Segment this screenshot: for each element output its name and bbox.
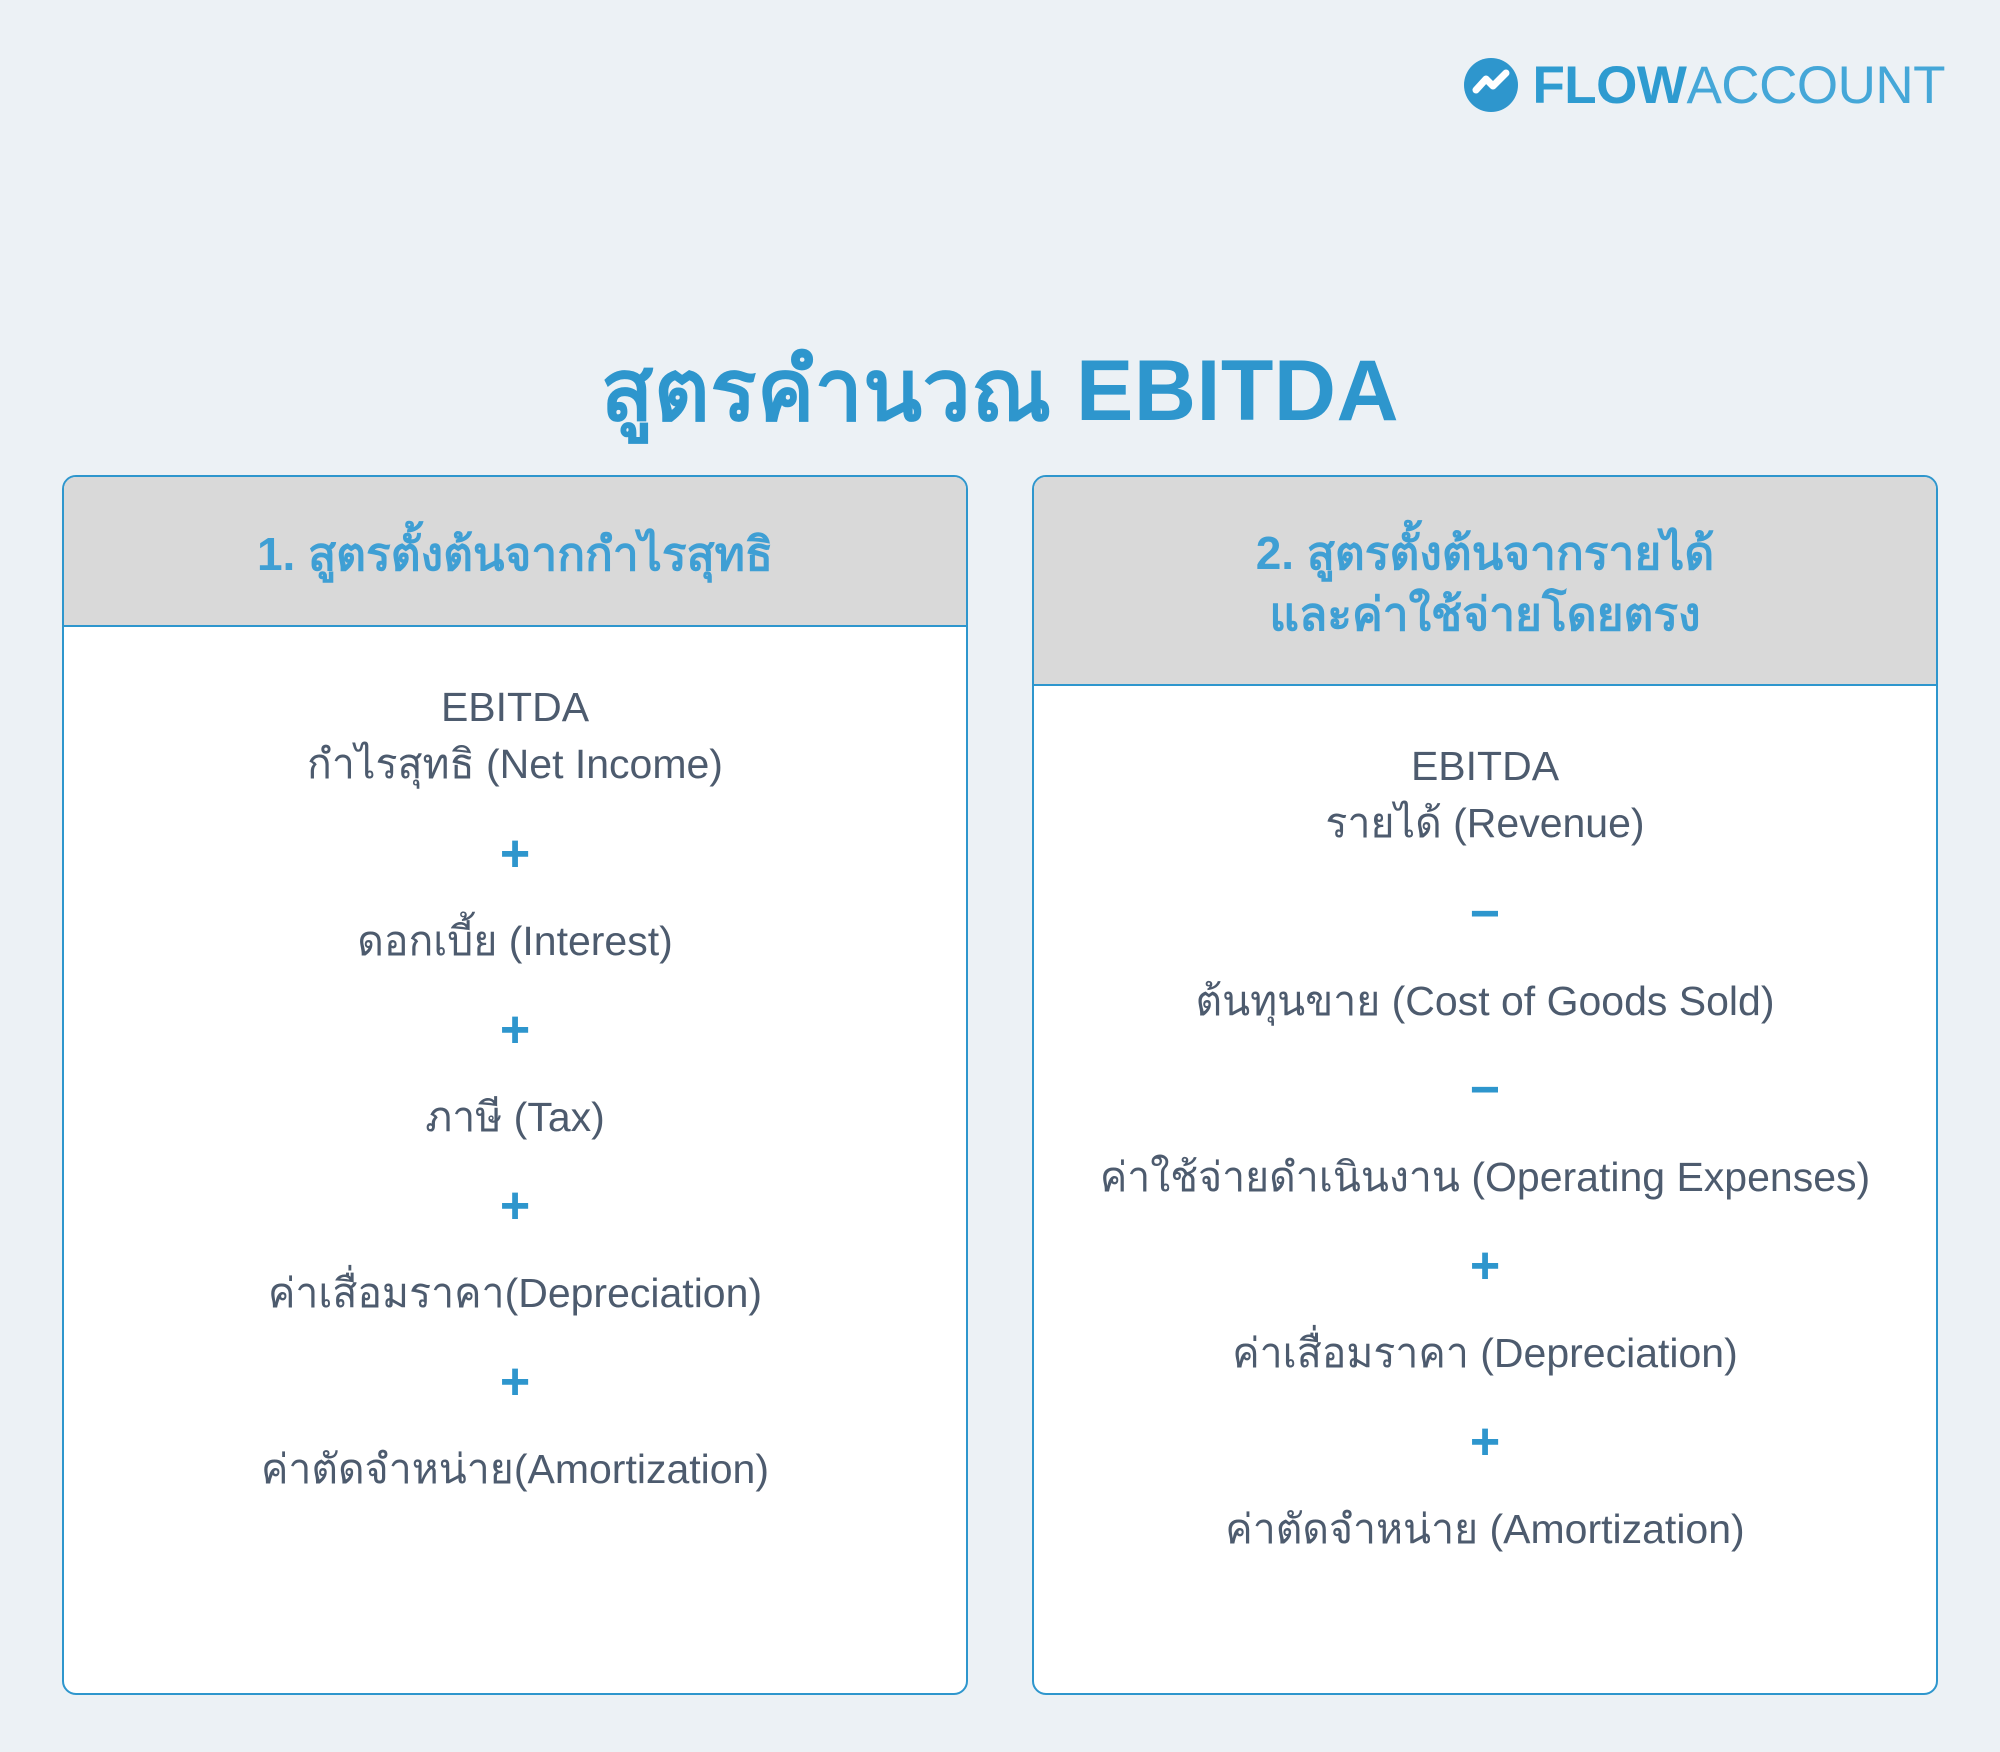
formula-card-2-term-2: ค่าใช้จ่ายดำเนินงาน (Operating Expenses) [1100, 1150, 1870, 1204]
flowaccount-wave-circle-icon [1464, 58, 1518, 112]
formula-card-1-header-line-1: 1. สูตรตั้งต้นจากกำไรสุทธิ [88, 524, 942, 585]
formula-card-2-term-4: ค่าตัดจำหน่าย (Amortization) [1225, 1502, 1744, 1556]
formula-card-2-lead-line-1: EBITDA [1411, 738, 1559, 795]
formula-card-2: 2. สูตรตั้งต้นจากรายได้ และค่าใช้จ่ายโดย… [1032, 475, 1938, 1695]
formula-card-1: 1. สูตรตั้งต้นจากกำไรสุทธิ EBITDA กำไรสุ… [62, 475, 968, 1695]
formula-card-1-lead-line-1: EBITDA [441, 679, 589, 736]
formula-card-2-header-line-2: และค่าใช้จ่ายโดยตรง [1058, 584, 1912, 645]
formula-card-2-operator-3: + [1470, 1240, 1500, 1292]
formula-card-1-term-3: ค่าเสื่อมราคา(Depreciation) [268, 1266, 762, 1320]
formula-card-2-header: 2. สูตรตั้งต้นจากรายได้ และค่าใช้จ่ายโดย… [1034, 477, 1936, 686]
formula-card-1-operator-3: + [500, 1180, 530, 1232]
formula-card-1-body: EBITDA กำไรสุทธิ (Net Income) + ดอกเบี้ย… [64, 627, 966, 1693]
formula-card-1-term-4: ค่าตัดจำหน่าย(Amortization) [261, 1442, 769, 1496]
brand-wordmark-flow: FLOW [1532, 59, 1686, 112]
formula-card-2-term-1: ต้นทุนขาย (Cost of Goods Sold) [1195, 974, 1774, 1028]
brand-logo: FLOWACCOUNT [1464, 58, 1945, 112]
formula-card-2-lead-line-2: รายได้ (Revenue) [1325, 795, 1644, 852]
formula-card-1-term-1: ดอกเบี้ย (Interest) [357, 914, 673, 968]
formula-card-2-operator-1: − [1470, 888, 1500, 940]
formula-card-2-operator-4: + [1470, 1416, 1500, 1468]
formula-card-2-body: EBITDA รายได้ (Revenue) − ต้นทุนขาย (Cos… [1034, 686, 1936, 1693]
formula-card-1-term-2: ภาษี (Tax) [425, 1090, 605, 1144]
formula-card-1-operator-1: + [500, 828, 530, 880]
formula-card-2-term-3: ค่าเสื่อมราคา (Depreciation) [1232, 1326, 1738, 1380]
formula-card-2-operator-2: − [1470, 1064, 1500, 1116]
formula-card-1-lead-line-2: กำไรสุทธิ (Net Income) [307, 736, 723, 793]
formula-cards-row: 1. สูตรตั้งต้นจากกำไรสุทธิ EBITDA กำไรสุ… [62, 475, 1938, 1695]
formula-card-2-header-line-1: 2. สูตรตั้งต้นจากรายได้ [1058, 523, 1912, 584]
formula-card-1-operator-4: + [500, 1356, 530, 1408]
formula-card-1-operator-2: + [500, 1004, 530, 1056]
page-title: สูตรคำนวณ EBITDA [0, 344, 2000, 439]
brand-wordmark: FLOWACCOUNT [1532, 59, 1945, 112]
brand-wordmark-account: ACCOUNT [1686, 59, 1945, 112]
formula-card-1-header: 1. สูตรตั้งต้นจากกำไรสุทธิ [64, 477, 966, 627]
